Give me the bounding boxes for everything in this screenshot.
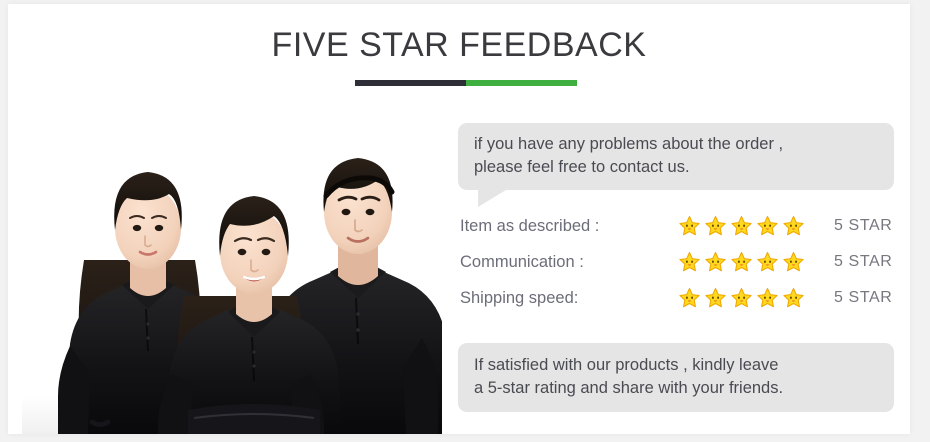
title-underline [355, 80, 577, 86]
contact-message-line-2: please feel free to contact us. [474, 156, 878, 179]
page-title: FIVE STAR FEEDBACK [8, 26, 910, 65]
smiley-star-icon [678, 287, 701, 310]
title-underline-green-segment [466, 80, 577, 86]
contact-message-bubble: if you have any problems about the order… [458, 123, 894, 190]
smiley-star-icon [730, 251, 753, 274]
title-underline-dark-segment [355, 80, 466, 86]
smiley-star-icon [704, 215, 727, 238]
rating-row: Item as described : 5 STAR [458, 208, 898, 244]
feedback-card: FIVE STAR FEEDBACK [8, 4, 910, 434]
rating-stars [678, 215, 805, 238]
rating-value: 5 STAR [834, 289, 892, 307]
rating-label: Shipping speed: [460, 289, 578, 308]
smiley-star-icon [782, 287, 805, 310]
rating-request-note: If satisfied with our products , kindly … [458, 343, 894, 412]
smiley-star-icon [678, 215, 701, 238]
bubble-tail [478, 190, 506, 207]
smiley-star-icon [782, 251, 805, 274]
smiley-star-icon [756, 215, 779, 238]
contact-message-line-1: if you have any problems about the order… [474, 133, 878, 156]
smiley-star-icon [730, 215, 753, 238]
rating-row: Communication : 5 STAR [458, 244, 898, 280]
smiley-star-icon [678, 251, 701, 274]
ratings-list: Item as described : 5 STAR Communication… [458, 208, 898, 316]
rating-value: 5 STAR [834, 217, 892, 235]
team-photo [22, 100, 442, 434]
page-background: FIVE STAR FEEDBACK [0, 0, 930, 442]
rating-label: Item as described : [460, 217, 599, 236]
rating-stars [678, 287, 805, 310]
smiley-star-icon [782, 215, 805, 238]
smiley-star-icon [730, 287, 753, 310]
rating-row: Shipping speed: 5 STAR [458, 280, 898, 316]
team-photo-illustration [22, 100, 442, 434]
smiley-star-icon [704, 251, 727, 274]
smiley-star-icon [756, 287, 779, 310]
feedback-panel: if you have any problems about the order… [454, 100, 900, 434]
rating-label: Communication : [460, 253, 584, 272]
header: FIVE STAR FEEDBACK [8, 4, 910, 96]
smiley-star-icon [756, 251, 779, 274]
rating-stars [678, 251, 805, 274]
rating-request-line-2: a 5-star rating and share with your frie… [474, 377, 878, 400]
rating-value: 5 STAR [834, 253, 892, 271]
smiley-star-icon [704, 287, 727, 310]
rating-request-line-1: If satisfied with our products , kindly … [474, 354, 878, 377]
